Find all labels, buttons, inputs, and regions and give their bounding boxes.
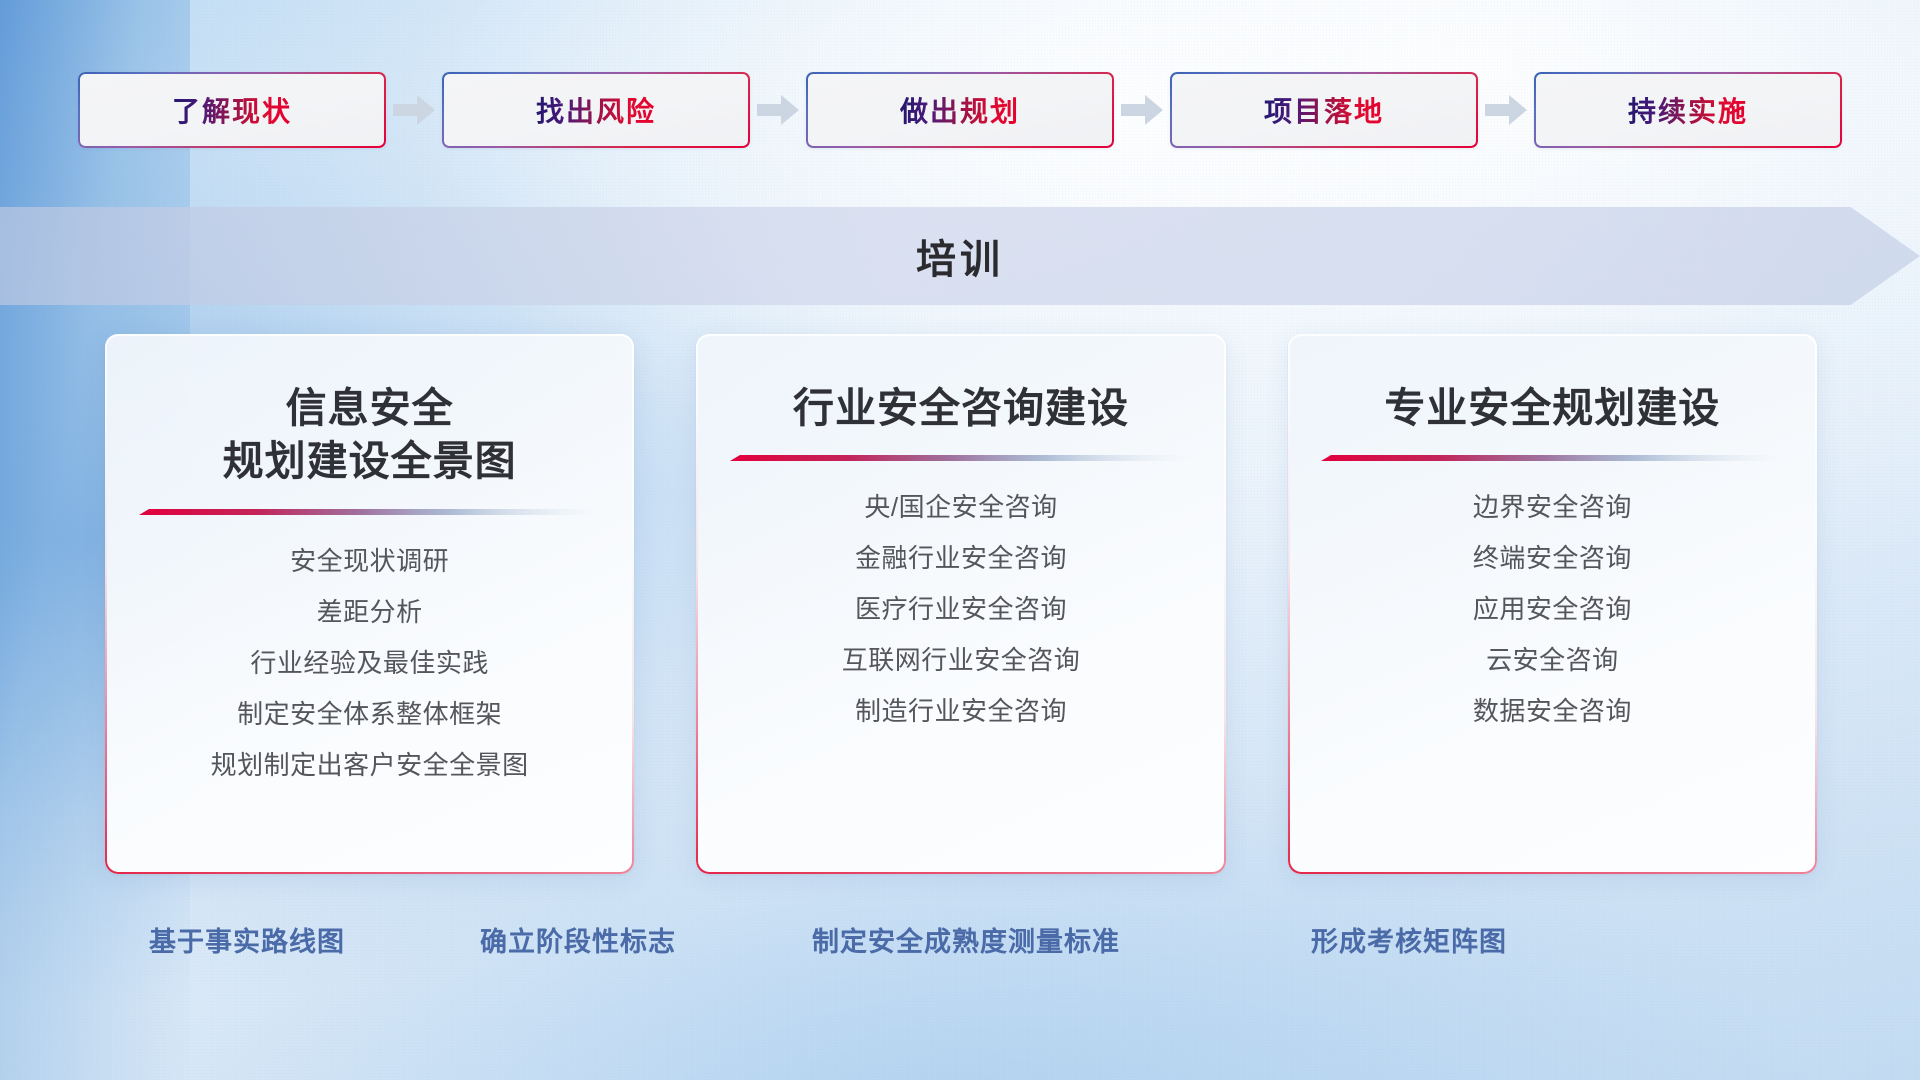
card-list-item[interactable]: 央/国企安全咨询 [864,488,1057,527]
card-list-item[interactable]: 金融行业安全咨询 [855,539,1067,578]
step-pill[interactable]: 做出规划 [806,72,1114,148]
card-list-item[interactable]: 规划制定出客户安全全景图 [211,746,529,785]
footer-label: 基于事实路线图 [149,920,345,959]
step-pill-label: 持续实施 [1628,90,1748,130]
card-title: 行业安全咨询建设 [775,382,1147,435]
card-list-item[interactable]: 数据安全咨询 [1473,692,1632,731]
card-list-item[interactable]: 互联网行业安全咨询 [842,641,1081,680]
step-pill[interactable]: 找出风险 [442,72,750,148]
card-list-item[interactable]: 应用安全咨询 [1473,590,1632,629]
card-item-list: 边界安全咨询终端安全咨询应用安全咨询云安全咨询数据安全咨询 [1288,488,1817,731]
step-pill-label: 了解现状 [172,90,292,130]
step-arrow-icon [1478,72,1534,148]
step-pill[interactable]: 持续实施 [1534,72,1842,148]
card-divider [730,455,1192,466]
process-step-row: 了解现状找出风险做出规划项目落地持续实施 [0,72,1920,148]
card-item-list: 央/国企安全咨询金融行业安全咨询医疗行业安全咨询互联网行业安全咨询制造行业安全咨… [696,488,1225,731]
step-arrow-icon [750,72,806,148]
step-pill-label: 项目落地 [1264,90,1384,130]
card-divider [139,509,601,520]
card-list-item[interactable]: 安全现状调研 [290,542,449,581]
footer-label-row: 基于事实路线图确立阶段性标志制定安全成熟度测量标准形成考核矩阵图 [0,920,1920,980]
card-list-item[interactable]: 医疗行业安全咨询 [855,590,1067,629]
step-arrow-icon [1114,72,1170,148]
card-row: 信息安全 规划建设全景图安全现状调研差距分析行业经验及最佳实践制定安全体系整体框… [105,334,1817,874]
info-card[interactable]: 信息安全 规划建设全景图安全现状调研差距分析行业经验及最佳实践制定安全体系整体框… [105,334,634,874]
card-list-item[interactable]: 终端安全咨询 [1473,539,1632,578]
card-list-item[interactable]: 行业经验及最佳实践 [250,644,489,683]
step-pill-label: 做出规划 [900,90,1020,130]
card-title: 专业安全规划建设 [1366,382,1738,435]
footer-label: 形成考核矩阵图 [1311,920,1507,959]
step-pill[interactable]: 了解现状 [78,72,386,148]
card-list-item[interactable]: 差距分析 [317,593,423,632]
card-list-item[interactable]: 制造行业安全咨询 [855,692,1067,731]
step-pill-label: 找出风险 [536,90,656,130]
info-card[interactable]: 行业安全咨询建设央/国企安全咨询金融行业安全咨询医疗行业安全咨询互联网行业安全咨… [696,334,1225,874]
footer-label: 制定安全成熟度测量标准 [812,920,1120,959]
card-list-item[interactable]: 制定安全体系整体框架 [237,695,502,734]
card-title: 信息安全 规划建设全景图 [205,382,535,489]
step-pill[interactable]: 项目落地 [1170,72,1478,148]
training-arrow-band: 培训 [0,207,1920,305]
footer-label: 确立阶段性标志 [480,920,676,959]
card-divider [1321,455,1783,466]
card-list-item[interactable]: 边界安全咨询 [1473,488,1632,527]
training-band-label: 培训 [0,227,1920,285]
step-arrow-icon [386,72,442,148]
info-card[interactable]: 专业安全规划建设边界安全咨询终端安全咨询应用安全咨询云安全咨询数据安全咨询 [1288,334,1817,874]
card-list-item[interactable]: 云安全咨询 [1486,641,1619,680]
card-item-list: 安全现状调研差距分析行业经验及最佳实践制定安全体系整体框架规划制定出客户安全全景… [105,542,634,785]
